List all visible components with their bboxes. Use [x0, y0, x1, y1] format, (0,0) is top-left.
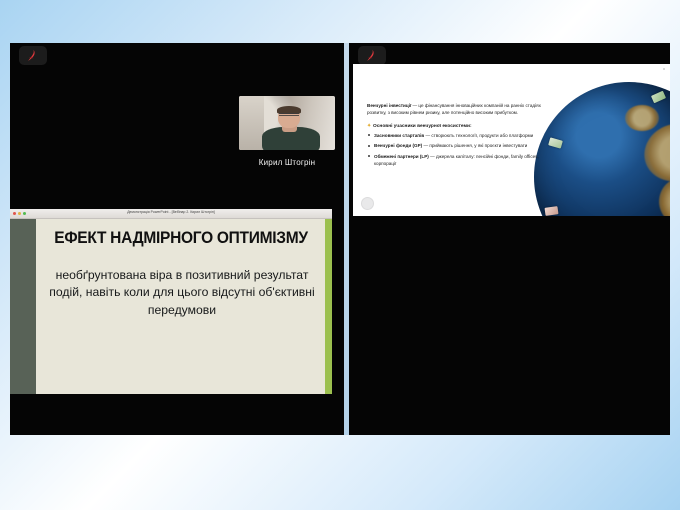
list-item: Обмежені партнери (LP) — джерела капітал…	[367, 153, 553, 168]
powerpoint-window-title: Демонстрація PowerPoint - [Вебінар 2. Ки…	[10, 210, 332, 214]
venture-bullet-list: Засновники стартапів — створюють техноло…	[367, 132, 553, 167]
presentation-slide-optimism: ЕФЕКТ НАДМІРНОГО ОПТИМІЗМУ необґрунтован…	[10, 219, 332, 394]
bullet-term: Обмежені партнери (LP)	[374, 154, 429, 159]
slide-wave-decoration	[10, 219, 36, 394]
slide-green-accent-bar	[325, 219, 332, 394]
avatar	[361, 197, 374, 210]
meeting-panel-right[interactable]: Alyona Dovhos... Венчурні інвестиції — ц…	[349, 43, 670, 435]
screenshot-stage: Кирил Штогрін Демонстрація PowerPoint - …	[0, 0, 680, 510]
adobe-acrobat-icon-right[interactable]	[358, 46, 386, 65]
list-item: Засновники стартапів — створюють техноло…	[367, 132, 553, 139]
meeting-window: Кирил Штогрін Демонстрація PowerPoint - …	[10, 43, 670, 435]
slide-title: ЕФЕКТ НАДМІРНОГО ОПТИМІЗМУ	[52, 230, 310, 247]
participant-name-kyrylo: Кирил Штогрін	[239, 158, 335, 167]
bullet-term: Засновники стартапів	[374, 133, 424, 138]
star-icon: ✦	[367, 124, 371, 129]
slide-corner-dot	[663, 68, 665, 70]
participant-video-kyrylo	[239, 96, 335, 150]
powerpoint-title-bar[interactable]: Демонстрація PowerPoint - [Вебінар 2. Ки…	[10, 209, 332, 219]
venture-section-heading-label: Основні учасники венчурної екосистеми:	[373, 124, 472, 129]
banknote-icon	[545, 207, 559, 216]
participant-tile-kyrylo[interactable]: Кирил Штогрін	[239, 96, 335, 150]
venture-lead-term: Венчурні інвестиції	[367, 103, 411, 108]
shared-powerpoint-window[interactable]: Демонстрація PowerPoint - [Вебінар 2. Ки…	[10, 209, 332, 394]
banknote-icon	[651, 91, 666, 104]
adobe-acrobat-icon[interactable]	[19, 46, 47, 65]
bullet-text: — приймають рішення, у які проєкти інвес…	[422, 143, 527, 148]
slide-body-text: необґрунтована віра в позитивний результ…	[46, 267, 318, 319]
venture-slide-text: Венчурні інвестиції — це фінансування ін…	[367, 102, 553, 170]
bullet-text: — створюють технології, продукти або пла…	[424, 133, 533, 138]
venture-lead-paragraph: Венчурні інвестиції — це фінансування ін…	[367, 102, 553, 117]
earth-globe-image	[534, 82, 670, 216]
meeting-panel-left[interactable]: Кирил Штогрін Демонстрація PowerPoint - …	[10, 43, 344, 435]
bullet-term: Венчурні фонди (GP)	[374, 143, 422, 148]
venture-section-heading: ✦ Основні учасники венчурної екосистеми:	[367, 124, 553, 129]
shared-slide-venture-capital[interactable]: Венчурні інвестиції — це фінансування ін…	[353, 64, 670, 216]
list-item: Венчурні фонди (GP) — приймають рішення,…	[367, 142, 553, 149]
